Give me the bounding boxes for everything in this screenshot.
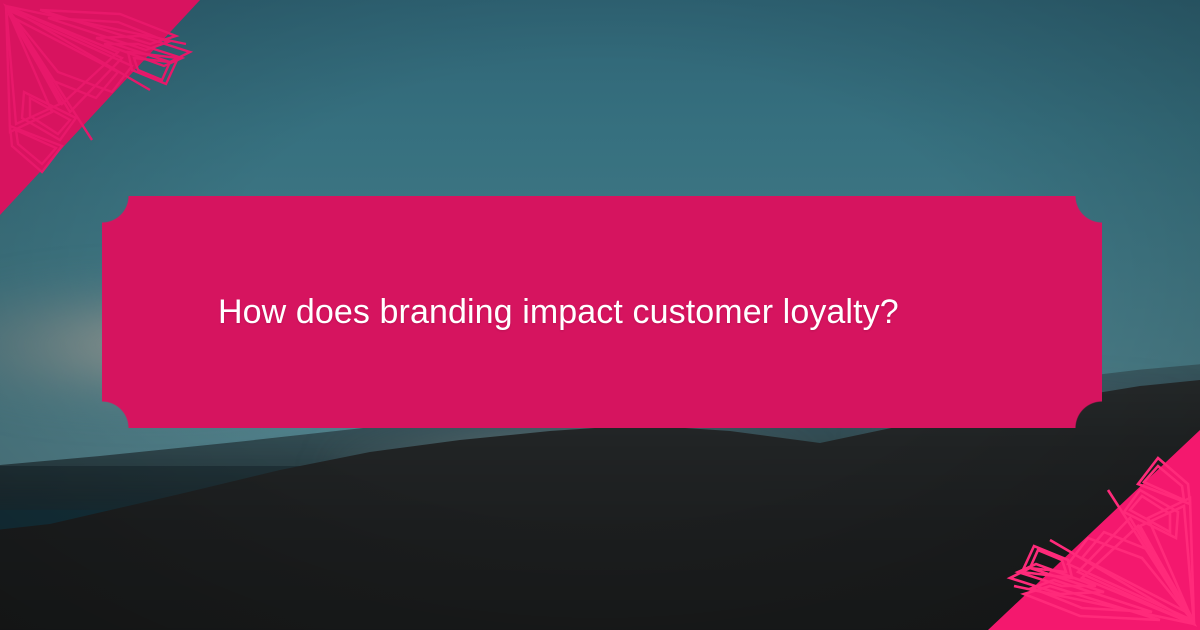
page-title: How does branding impact customer loyalt… xyxy=(102,196,1102,428)
headline-banner: How does branding impact customer loyalt… xyxy=(102,196,1102,428)
